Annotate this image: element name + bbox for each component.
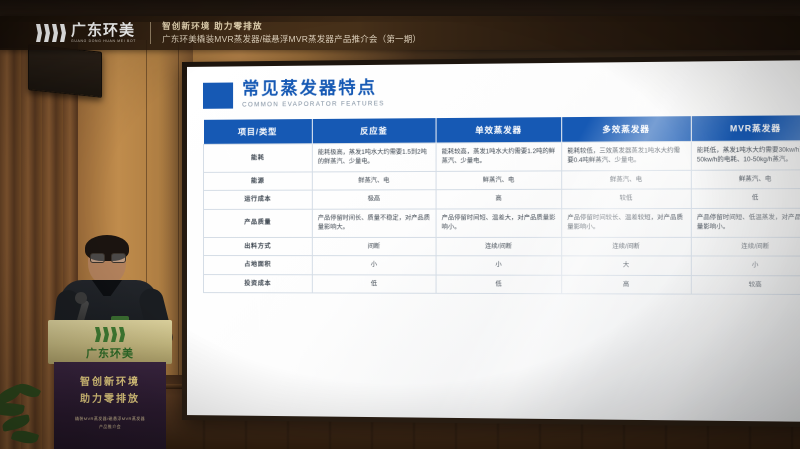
brand-logo: 广东环美 GUANG DONG HUAN MEI BOT	[36, 23, 136, 43]
brand-name-cn: 广东环美	[71, 23, 136, 38]
column-header-mvr: MVR蒸发器	[691, 115, 800, 141]
cell-value: 能耗较高，蒸发1吨水大约需要1.2吨的鲜蒸汽、少量电。	[436, 142, 562, 171]
projection-screen-frame: 常见蒸发器特点 COMMON EVAPORATOR FEATURES 项目/类型…	[182, 55, 800, 428]
podium-brand-name: 广东环美	[86, 345, 134, 361]
evaporator-comparison-table: 项目/类型 反应釜 单效蒸发器 多效蒸发器 MVR蒸发器 能耗 能耗极高，蒸发1…	[203, 115, 800, 295]
table-row: 占地面积 小 小 大 小	[203, 256, 800, 276]
cell-value: 小	[312, 256, 436, 275]
cell-value: 小	[436, 256, 562, 275]
page-subtitle: COMMON EVAPORATOR FEATURES	[242, 100, 385, 108]
podium-slogan-line2: 助力零排放	[54, 392, 166, 407]
projection-screen: 常见蒸发器特点 COMMON EVAPORATOR FEATURES 项目/类型…	[187, 60, 800, 422]
cell-value: 鲜蒸汽、电	[312, 171, 436, 190]
row-label: 占地面积	[203, 256, 312, 275]
cell-value: 连续/间断	[562, 237, 691, 256]
cell-value: 高	[436, 190, 562, 209]
cell-value: 极高	[312, 190, 436, 209]
slide-content: 常见蒸发器特点 COMMON EVAPORATOR FEATURES 项目/类型…	[187, 60, 800, 422]
row-label: 能源	[203, 172, 312, 191]
table-row: 能耗 能耗极高，蒸发1吨水大约需要1.5到2吨的鲜蒸汽、少量电。 能耗较高，蒸发…	[203, 141, 800, 173]
column-header-reactor: 反应釜	[312, 118, 436, 144]
cell-value: 低	[312, 274, 436, 293]
chevron-logo-icon	[36, 24, 66, 42]
cell-value: 产品停留时间短、温差大，对产品质量影响小。	[436, 209, 562, 238]
cell-value: 鲜蒸汽、电	[691, 170, 800, 190]
accent-square	[203, 82, 233, 108]
podium-top-panel: 广东环美	[48, 320, 172, 364]
banner-slogan: 智创新环境 助力零排放	[162, 21, 421, 32]
column-header-multi-effect: 多效蒸发器	[562, 116, 691, 142]
cell-value: 产品停留时间长、质量不稳定，对产品质量影响大。	[312, 209, 436, 237]
podium-body: 智创新环境 助力零排放 橇装MVR蒸发器/磁悬浮MVR蒸发器 产品推介会	[54, 362, 166, 449]
cell-value: 低	[436, 275, 562, 294]
row-label: 能耗	[203, 144, 312, 173]
slide-header: 常见蒸发器特点 COMMON EVAPORATOR FEATURES	[203, 75, 800, 109]
cell-value: 产品停留时间较长、温差较短，对产品质量影响小。	[562, 208, 691, 237]
row-label: 产品质量	[203, 209, 312, 237]
row-label: 出料方式	[203, 237, 312, 256]
table-row: 能源 鲜蒸汽、电 鲜蒸汽、电 鲜蒸汽、电 鲜蒸汽、电	[203, 170, 800, 191]
cell-value: 连续/间断	[436, 237, 562, 256]
cell-value: 高	[562, 275, 691, 294]
column-header-single-effect: 单效蒸发器	[436, 117, 562, 143]
page-title: 常见蒸发器特点	[242, 79, 385, 98]
podium: 广东环美 智创新环境 助力零排放 橇装MVR蒸发器/磁悬浮MVR蒸发器 产品推介…	[48, 320, 172, 449]
cell-value: 小	[691, 256, 800, 275]
column-header-type: 项目/类型	[203, 119, 312, 144]
table-row: 产品质量 产品停留时间长、质量不稳定，对产品质量影响大。 产品停留时间短、温差大…	[203, 208, 800, 237]
cell-value: 能耗极高，蒸发1吨水大约需要1.5到2吨的鲜蒸汽、少量电。	[312, 143, 436, 172]
cell-value: 较高	[691, 275, 800, 294]
cell-value: 连续/间断	[691, 237, 800, 256]
cell-value: 大	[562, 256, 691, 275]
glasses-icon	[90, 253, 124, 261]
podium-event-line1: 橇装MVR蒸发器/磁悬浮MVR蒸发器	[54, 416, 166, 422]
cell-value: 间断	[312, 237, 436, 256]
cell-value: 产品停留时间短、低温蒸发，对产品质量影响小。	[691, 208, 800, 237]
banner-divider	[150, 22, 151, 44]
cell-value: 鲜蒸汽、电	[436, 171, 562, 190]
cell-value: 能耗低，蒸发1吨水大约需要30kw/h到50kw/h的电耗、10-50kg/h蒸…	[691, 141, 800, 171]
event-banner: 广东环美 GUANG DONG HUAN MEI BOT 智创新环境 助力零排放…	[0, 16, 800, 50]
cell-value: 能耗较低，三效蒸发器蒸发1吨水大约需要0.4吨鲜蒸汽、少量电。	[562, 141, 691, 170]
cell-value: 较低	[562, 189, 691, 208]
banner-subtitle: 广东环美橇装MVR蒸发器/磁悬浮MVR蒸发器产品推介会（第一期）	[162, 34, 421, 45]
podium-chevron-logo-icon	[95, 327, 125, 342]
cell-value: 鲜蒸汽、电	[562, 170, 691, 189]
table-header-row: 项目/类型 反应釜 单效蒸发器 多效蒸发器 MVR蒸发器	[203, 115, 800, 144]
ceiling-speaker	[28, 44, 102, 98]
brand-name-en: GUANG DONG HUAN MEI BOT	[71, 40, 136, 43]
cell-value: 低	[691, 189, 800, 208]
podium-event-line2: 产品推介会	[54, 424, 166, 430]
table-row: 运行成本 极高 高 较低 低	[203, 189, 800, 209]
conference-room-photo: 广东环美 GUANG DONG HUAN MEI BOT 智创新环境 助力零排放…	[0, 0, 800, 449]
row-label: 运行成本	[203, 190, 312, 209]
podium-slogan-line1: 智创新环境	[54, 375, 166, 390]
row-label: 投资成本	[203, 274, 312, 293]
table-row: 投资成本 低 低 高 较高	[203, 274, 800, 294]
table-row: 出料方式 间断 连续/间断 连续/间断 连续/间断	[203, 237, 800, 256]
